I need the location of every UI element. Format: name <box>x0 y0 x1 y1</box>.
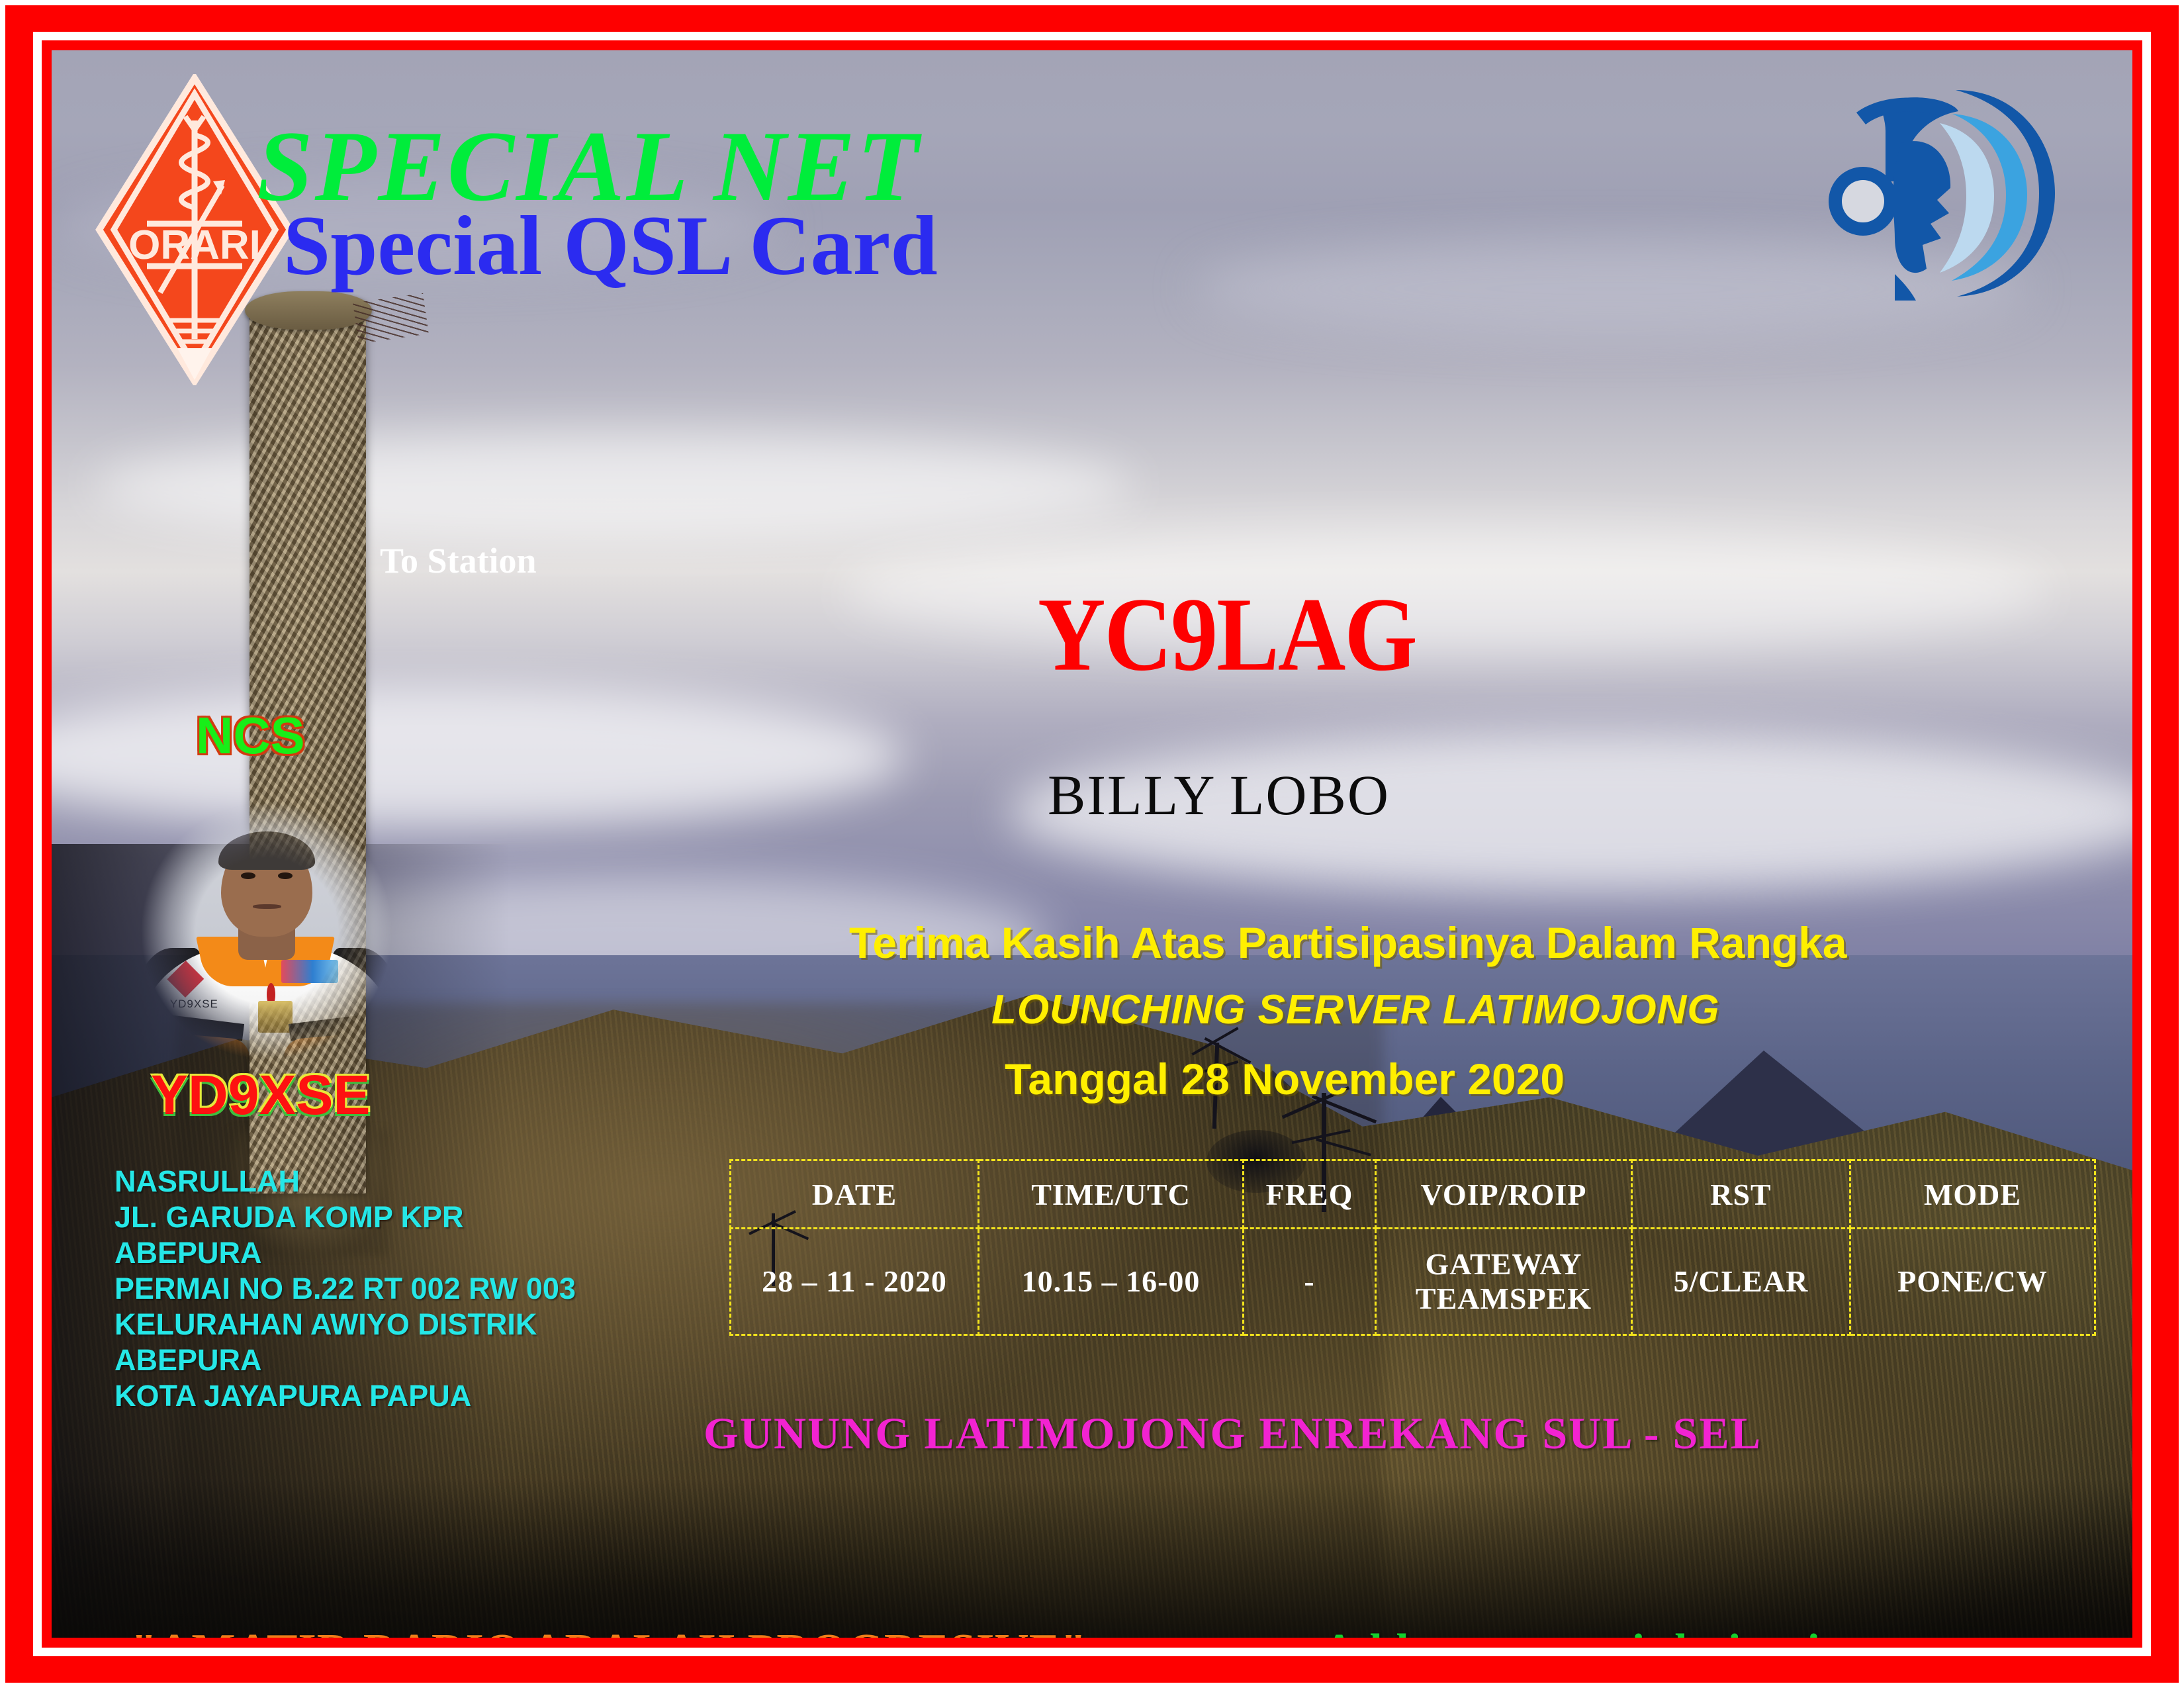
event-line: LOUNCHING SERVER LATIMOJONG <box>991 986 1720 1033</box>
column-header-date: DATE <box>731 1160 979 1229</box>
svg-text:ORARI: ORARI <box>128 222 261 268</box>
cell-mode: PONE/CW <box>1850 1229 2095 1335</box>
cloud-band <box>842 526 2050 653</box>
page-subtitle: Special QSL Card <box>283 197 938 295</box>
table-header-row: DATE TIME/UTC FREQ VOIP/ROIP RST MODE <box>731 1160 2095 1229</box>
cell-voip-roip: GATEWAY TEAMSPEK <box>1376 1229 1632 1335</box>
to-station-label: To Station <box>380 540 537 581</box>
address-line: KOTA JAYAPURA PAPUA <box>114 1378 697 1414</box>
column-header-freq: FREQ <box>1244 1160 1376 1229</box>
table-row: 28 – 11 - 2020 10.15 – 16-00 - GATEWAY T… <box>731 1229 2095 1335</box>
mailing-address-block: NASRULLAH JL. GARUDA KOMP KPR ABEPURA PE… <box>114 1164 697 1414</box>
cell-voip-line2: TEAMSPEK <box>1377 1282 1631 1316</box>
headset-operator-logo <box>1817 82 2062 301</box>
address-line: PERMAI NO B.22 RT 002 RW 003 <box>114 1271 697 1307</box>
cell-voip-line1: GATEWAY <box>1377 1247 1631 1282</box>
station-callsign: YC9LAG <box>1038 573 1416 695</box>
background-photograph: ORARI SPECIAL NET Special Q <box>52 50 2132 1638</box>
address-line: NASRULLAH <box>114 1164 697 1199</box>
ncs-operator-photo: YD9XSE <box>124 785 409 1076</box>
cell-date: 28 – 11 - 2020 <box>731 1229 979 1335</box>
column-header-rst: RST <box>1632 1160 1850 1229</box>
thanks-line: Terima Kasih Atas Partisipasinya Dalam R… <box>849 917 1847 968</box>
address-line: ABEPURA <box>114 1235 697 1271</box>
event-date-line: Tanggal 28 November 2020 <box>1005 1054 1565 1104</box>
ncs-callsign: YD9XSE <box>151 1063 371 1127</box>
cell-rst: 5/CLEAR <box>1632 1229 1850 1335</box>
web-address-text: Address : amatir.latimojong.com <box>1322 1624 1991 1638</box>
qso-log-table: DATE TIME/UTC FREQ VOIP/ROIP RST MODE 28… <box>729 1159 2096 1336</box>
ncs-label: NCS <box>196 706 305 766</box>
operator-name: BILLY LOBO <box>1048 762 1390 828</box>
cell-freq: - <box>1244 1229 1376 1335</box>
slogan-text: "AMATIR RADIO ADALAH PROGRESIVE" <box>131 1624 1087 1638</box>
qsl-card: ORARI SPECIAL NET Special Q <box>0 0 2184 1688</box>
address-line: KELURAHAN AWIYO DISTRIK <box>114 1307 697 1342</box>
column-header-mode: MODE <box>1850 1160 2095 1229</box>
location-line: GUNUNG LATIMOJONG ENREKANG SUL - SEL <box>704 1407 1762 1460</box>
column-header-voip-roip: VOIP/ROIP <box>1376 1160 1632 1229</box>
column-header-time: TIME/UTC <box>979 1160 1244 1229</box>
shadow-bottom <box>52 1479 2132 1638</box>
address-line: ABEPURA <box>114 1342 697 1378</box>
cell-time: 10.15 – 16-00 <box>979 1229 1244 1335</box>
uniform-callsign-text: YD9XSE <box>170 998 218 1011</box>
address-line: JL. GARUDA KOMP KPR <box>114 1199 697 1235</box>
